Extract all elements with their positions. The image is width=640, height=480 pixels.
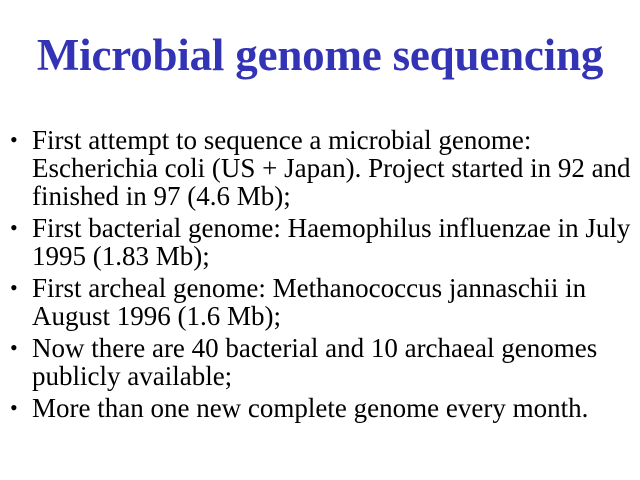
bullet-point-icon: • xyxy=(10,274,24,302)
list-item: • First attempt to sequence a microbial … xyxy=(4,126,640,210)
list-item: • More than one new complete genome ever… xyxy=(4,394,640,422)
bullet-text: First attempt to sequence a microbial ge… xyxy=(32,126,640,210)
bullet-point-icon: • xyxy=(10,334,24,362)
bullet-point-icon: • xyxy=(10,394,24,422)
list-item: • First bacterial genome: Haemophilus in… xyxy=(4,214,640,270)
list-item: • First archeal genome: Methanococcus ja… xyxy=(4,274,640,330)
presentation-slide: Microbial genome sequencing • First atte… xyxy=(0,0,640,480)
list-item: • Now there are 40 bacterial and 10 arch… xyxy=(4,334,640,390)
bullet-point-icon: • xyxy=(10,126,24,154)
bullet-point-icon: • xyxy=(10,214,24,242)
page-title: Microbial genome sequencing xyxy=(0,30,640,80)
bullet-text: Now there are 40 bacterial and 10 archae… xyxy=(32,334,640,390)
bullet-text: More than one new complete genome every … xyxy=(32,394,640,422)
bullet-text: First archeal genome: Methanococcus jann… xyxy=(32,274,640,330)
bullet-list: • First attempt to sequence a microbial … xyxy=(4,126,640,422)
bullet-text: First bacterial genome: Haemophilus infl… xyxy=(32,214,640,270)
